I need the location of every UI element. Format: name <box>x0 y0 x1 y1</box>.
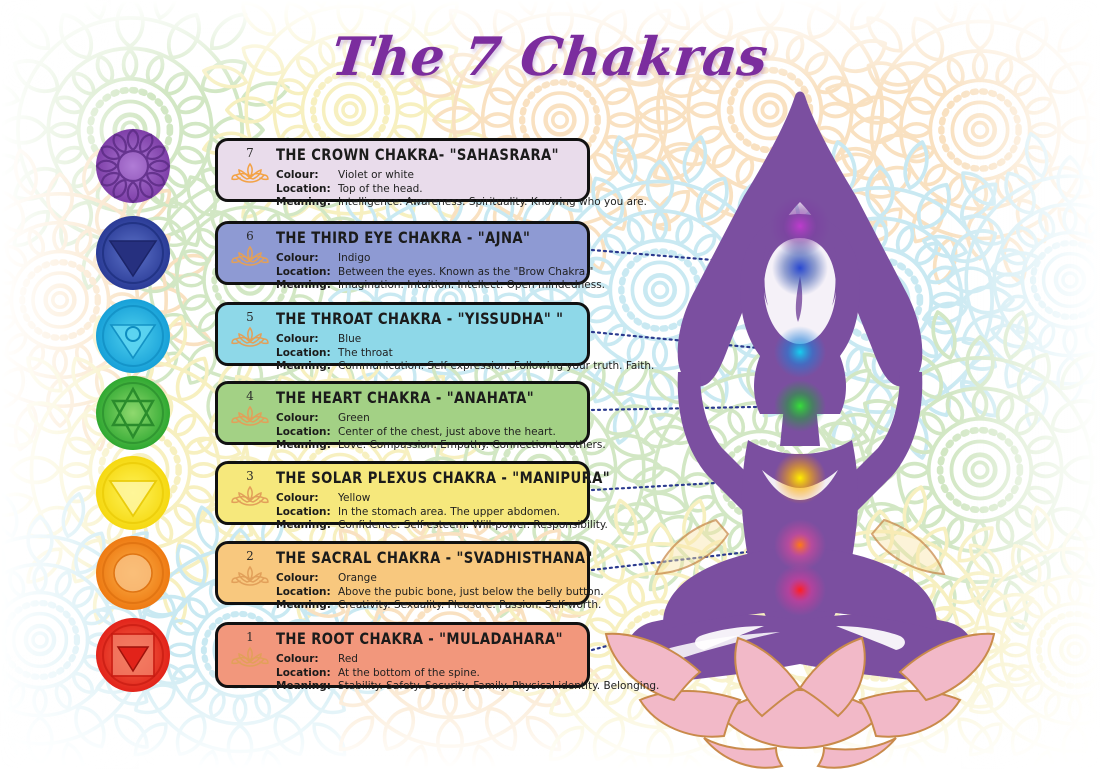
card-badge-crown: 7 <box>226 146 274 186</box>
meaning-label: Meaning: <box>276 360 338 373</box>
card-badge-root: 1 <box>226 630 274 670</box>
card-row-colour: Colour: Yellow <box>276 492 579 505</box>
card-number: 4 <box>246 390 254 402</box>
meaning-value: Creativity. Sexuality. Pleasure. Passion… <box>338 599 601 612</box>
card-title: THE THROAT CHAKRA - "YISSUDHA" " <box>276 312 579 329</box>
card-row-colour: Colour: Orange <box>276 572 579 585</box>
card-row-meaning: Meaning: Love. Compassion. Empathy. Conn… <box>276 439 579 452</box>
meaning-label: Meaning: <box>276 599 338 612</box>
card-row-location: Location: Top of the head. <box>276 183 579 196</box>
lotus-icon <box>230 403 270 429</box>
chakra-card-crown[interactable]: 7 THE CROWN CHAKRA- "SAHASRARA" Colour: <box>215 138 590 202</box>
chakra-card-sacral[interactable]: 2 THE SACRAL CHAKRA - "SVADHISTHANA" Col… <box>215 541 590 605</box>
card-row-meaning: Meaning: Imagination. Intuition. Intelle… <box>276 279 579 292</box>
colour-label: Colour: <box>276 412 338 425</box>
card-body: THE THROAT CHAKRA - "YISSUDHA" " Colour:… <box>274 310 579 374</box>
colour-label: Colour: <box>276 572 338 585</box>
location-value: In the stomach area. The upper abdomen. <box>338 506 560 519</box>
card-badge-third-eye: 6 <box>226 229 274 269</box>
card-body: THE CROWN CHAKRA- "SAHASRARA" Colour: Vi… <box>274 146 579 210</box>
location-value: Between the eyes. Known as the "Brow Cha… <box>338 266 593 279</box>
page-title: The 7 Chakras <box>329 26 771 88</box>
colour-label: Colour: <box>276 492 338 505</box>
lotus-icon <box>230 644 270 670</box>
card-row-location: Location: At the bottom of the spine. <box>276 667 579 680</box>
card-title: THE THIRD EYE CHAKRA - "AJNA" <box>276 231 579 248</box>
card-body: THE THIRD EYE CHAKRA - "AJNA" Colour: In… <box>274 229 579 293</box>
card-row-location: Location: Between the eyes. Known as the… <box>276 266 579 279</box>
meaning-value: Confidence. Self-esteem. Will-power. Res… <box>338 519 608 532</box>
card-row-meaning: Meaning: Confidence. Self-esteem. Will-p… <box>276 519 579 532</box>
chakra-cards-list: 7 THE CROWN CHAKRA- "SAHASRARA" Colour: <box>0 0 1100 769</box>
colour-label: Colour: <box>276 252 338 265</box>
card-title: THE ROOT CHAKRA - "MULADAHARA" <box>276 632 579 649</box>
colour-label: Colour: <box>276 169 338 182</box>
card-body: THE SACRAL CHAKRA - "SVADHISTHANA" Colou… <box>274 549 579 613</box>
card-row-location: Location: Center of the chest, just abov… <box>276 426 579 439</box>
location-label: Location: <box>276 586 338 599</box>
chakra-card-heart[interactable]: 4 THE HEART CHAKRA - "ANAHATA" Colour: <box>215 381 590 445</box>
card-row-meaning: Meaning: Creativity. Sexuality. Pleasure… <box>276 599 579 612</box>
meaning-value: Imagination. Intuition. Intellect. Open … <box>338 279 605 292</box>
lotus-icon <box>230 243 270 269</box>
colour-value: Violet or white <box>338 169 414 182</box>
colour-value: Green <box>338 412 370 425</box>
meaning-label: Meaning: <box>276 439 338 452</box>
lotus-icon <box>230 324 270 350</box>
card-title: THE SACRAL CHAKRA - "SVADHISTHANA" <box>276 551 579 568</box>
chakra-card-third-eye[interactable]: 6 THE THIRD EYE CHAKRA - "AJNA" Colour: <box>215 221 590 285</box>
card-badge-heart: 4 <box>226 389 274 429</box>
location-label: Location: <box>276 347 338 360</box>
chakra-card-root[interactable]: 1 THE ROOT CHAKRA - "MULADAHARA" Colour: <box>215 622 590 688</box>
colour-label: Colour: <box>276 333 338 346</box>
location-value: Above the pubic bone, just below the bel… <box>338 586 604 599</box>
card-number: 6 <box>246 230 254 242</box>
chakra-card-throat[interactable]: 5 THE THROAT CHAKRA - "YISSUDHA" " Colou… <box>215 302 590 366</box>
lotus-icon <box>230 160 270 186</box>
colour-value: Blue <box>338 333 361 346</box>
colour-value: Orange <box>338 572 377 585</box>
card-row-location: Location: The throat <box>276 347 579 360</box>
card-row-meaning: Meaning: Intelligence. Awareness. Spirit… <box>276 196 579 209</box>
location-value: Top of the head. <box>338 183 423 196</box>
card-row-colour: Colour: Green <box>276 412 579 425</box>
location-value: At the bottom of the spine. <box>338 667 480 680</box>
card-badge-sacral: 2 <box>226 549 274 589</box>
card-title: THE CROWN CHAKRA- "SAHASRARA" <box>276 148 579 165</box>
card-row-colour: Colour: Violet or white <box>276 169 579 182</box>
card-body: THE ROOT CHAKRA - "MULADAHARA" Colour: R… <box>274 630 579 694</box>
card-number: 7 <box>246 147 254 159</box>
card-number: 1 <box>246 631 254 643</box>
colour-value: Red <box>338 653 358 666</box>
card-row-meaning: Meaning: Communication. Self expression.… <box>276 360 579 373</box>
location-label: Location: <box>276 266 338 279</box>
card-row-location: Location: Above the pubic bone, just bel… <box>276 586 579 599</box>
card-row-colour: Colour: Indigo <box>276 252 579 265</box>
card-body: THE HEART CHAKRA - "ANAHATA" Colour: Gre… <box>274 389 579 453</box>
meaning-label: Meaning: <box>276 196 338 209</box>
location-label: Location: <box>276 506 338 519</box>
chakra-infographic-poster: The 7 Chakras <box>0 0 1100 769</box>
chakra-card-solar-plexus[interactable]: 3 THE SOLAR PLEXUS CHAKRA - "MANIPURA" C… <box>215 461 590 525</box>
poster-title-wrap: The 7 Chakras <box>0 26 1100 88</box>
colour-value: Yellow <box>338 492 370 505</box>
colour-label: Colour: <box>276 653 338 666</box>
meaning-value: Communication. Self expression. Followin… <box>338 360 654 373</box>
location-label: Location: <box>276 667 338 680</box>
card-row-colour: Colour: Blue <box>276 333 579 346</box>
meaning-value: Intelligence. Awareness. Spirituality. K… <box>338 196 647 209</box>
card-number: 2 <box>246 550 254 562</box>
card-title: THE HEART CHAKRA - "ANAHATA" <box>276 391 579 408</box>
card-title: THE SOLAR PLEXUS CHAKRA - "MANIPURA" <box>276 471 579 488</box>
colour-value: Indigo <box>338 252 370 265</box>
lotus-icon <box>230 563 270 589</box>
card-number: 3 <box>246 470 254 482</box>
location-label: Location: <box>276 183 338 196</box>
card-row-location: Location: In the stomach area. The upper… <box>276 506 579 519</box>
meaning-label: Meaning: <box>276 680 338 693</box>
meaning-value: Love. Compassion. Empathy. Connection to… <box>338 439 606 452</box>
card-row-colour: Colour: Red <box>276 653 579 666</box>
location-value: The throat <box>338 347 393 360</box>
card-body: THE SOLAR PLEXUS CHAKRA - "MANIPURA" Col… <box>274 469 579 533</box>
lotus-icon <box>230 483 270 509</box>
card-row-meaning: Meaning: Stability. Safety. Security. Fa… <box>276 680 579 693</box>
card-badge-throat: 5 <box>226 310 274 350</box>
location-label: Location: <box>276 426 338 439</box>
card-badge-solar-plexus: 3 <box>226 469 274 509</box>
card-number: 5 <box>246 311 254 323</box>
meaning-label: Meaning: <box>276 519 338 532</box>
meaning-label: Meaning: <box>276 279 338 292</box>
location-value: Center of the chest, just above the hear… <box>338 426 556 439</box>
meaning-value: Stability. Safety. Security. Family. Phy… <box>338 680 659 693</box>
